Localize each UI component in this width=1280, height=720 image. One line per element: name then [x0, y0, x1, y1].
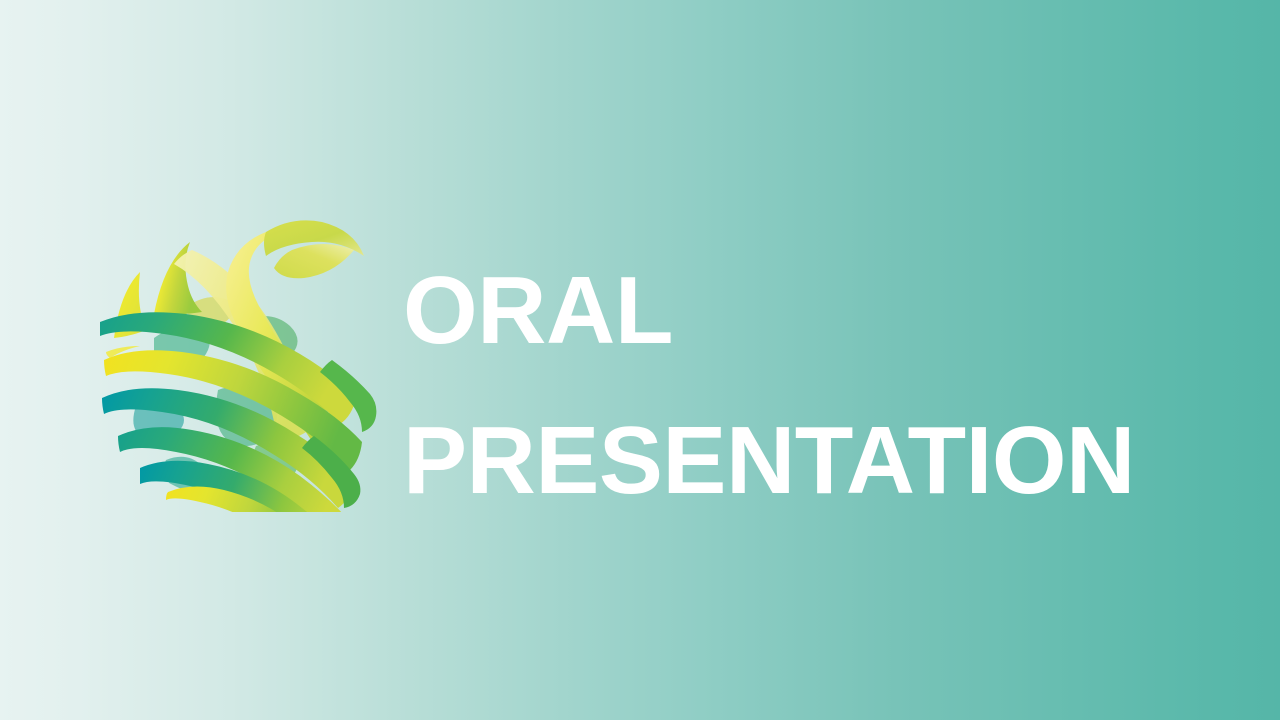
ribbon-leaf-blade	[274, 244, 354, 278]
presentation-slide: ORAL PRESENTATION	[0, 0, 1280, 720]
globe-ribbon-leaf-logo	[96, 210, 386, 512]
title-line-1: ORAL	[403, 236, 1233, 386]
title-line-2: PRESENTATION	[403, 386, 1233, 536]
logo-globe-group	[100, 220, 376, 512]
page-title: ORAL PRESENTATION	[403, 236, 1233, 536]
